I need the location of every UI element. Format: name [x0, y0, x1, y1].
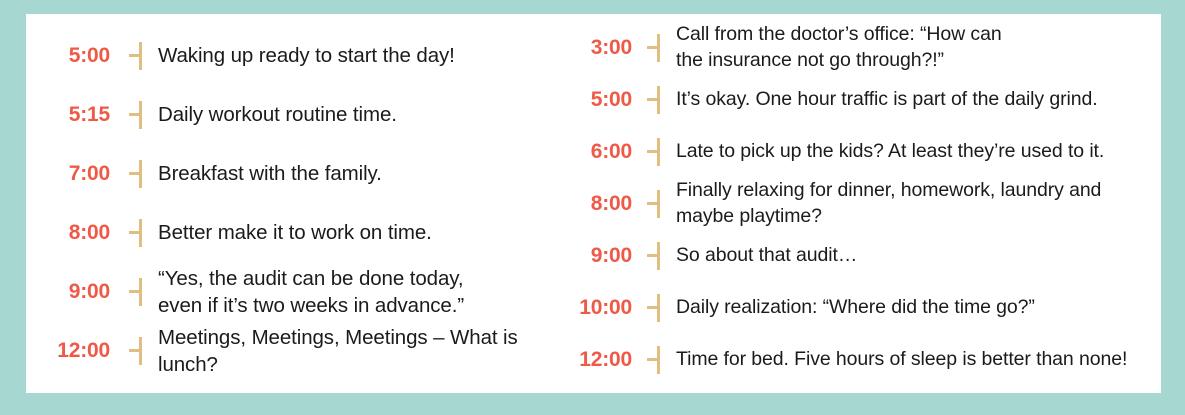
row-time: 12:00	[556, 348, 632, 372]
row-text: Waking up ready to start the day!	[158, 42, 556, 69]
row-time: 10:00	[556, 296, 632, 320]
row-time: 5:00	[26, 44, 110, 68]
tick-stem	[139, 160, 142, 188]
tick-mark-icon	[632, 85, 676, 115]
row-text: Meetings, Meetings, Meetings – What is l…	[158, 324, 556, 378]
row-time: 12:00	[26, 339, 110, 363]
tick-stem	[657, 138, 660, 166]
tick-stem	[139, 101, 142, 129]
row-time: 5:00	[556, 88, 632, 112]
row-time: 8:00	[26, 221, 110, 245]
row-text: Better make it to work on time.	[158, 219, 556, 246]
row-text: Finally relaxing for dinner, homework, l…	[676, 178, 1161, 229]
tick-mark-icon	[110, 100, 158, 130]
tick-mark-icon	[110, 277, 158, 307]
row-text: Breakfast with the family.	[158, 160, 556, 187]
tick-stem	[139, 337, 142, 365]
tick-mark-icon	[632, 293, 676, 323]
tick-arm	[129, 349, 139, 352]
schedule-row: 6:00Late to pick up the kids? At least t…	[556, 126, 1161, 178]
schedule-row: 9:00“Yes, the audit can be done today, e…	[26, 263, 556, 322]
tick-arm	[647, 254, 657, 257]
schedule-row: 7:00Breakfast with the family.	[26, 145, 556, 204]
tick-stem	[139, 219, 142, 247]
tick-arm	[129, 290, 139, 293]
schedule-card: 5:00Waking up ready to start the day!5:1…	[26, 14, 1161, 393]
tick-arm	[129, 54, 139, 57]
row-time: 3:00	[556, 36, 632, 60]
tick-mark-icon	[110, 159, 158, 189]
row-text: Daily realization: “Where did the time g…	[676, 295, 1161, 321]
tick-stem	[657, 190, 660, 218]
schedule-row: 12:00Meetings, Meetings, Meetings – What…	[26, 322, 556, 381]
tick-mark-icon	[632, 33, 676, 63]
row-time: 7:00	[26, 162, 110, 186]
row-text: So about that audit…	[676, 243, 1161, 269]
schedule-row: 12:00Time for bed. Five hours of sleep i…	[556, 334, 1161, 386]
row-text: Time for bed. Five hours of sleep is bet…	[676, 347, 1161, 373]
tick-arm	[129, 172, 139, 175]
teal-frame: 5:00Waking up ready to start the day!5:1…	[0, 0, 1185, 415]
row-text: It’s okay. One hour traffic is part of t…	[676, 87, 1161, 113]
row-time: 8:00	[556, 192, 632, 216]
row-text: Daily workout routine time.	[158, 101, 556, 128]
tick-mark-icon	[632, 345, 676, 375]
tick-stem	[657, 34, 660, 62]
row-time: 9:00	[556, 244, 632, 268]
tick-stem	[657, 86, 660, 114]
tick-arm	[647, 150, 657, 153]
tick-arm	[647, 202, 657, 205]
tick-arm	[647, 98, 657, 101]
schedule-row: 3:00Call from the doctor’s office: “How …	[556, 22, 1161, 74]
row-text: “Yes, the audit can be done today, even …	[158, 265, 556, 319]
schedule-row: 5:00It’s okay. One hour traffic is part …	[556, 74, 1161, 126]
tick-mark-icon	[110, 41, 158, 71]
schedule-row: 5:15Daily workout routine time.	[26, 86, 556, 145]
tick-arm	[129, 113, 139, 116]
tick-arm	[647, 358, 657, 361]
schedule-row: 8:00Better make it to work on time.	[26, 204, 556, 263]
row-time: 6:00	[556, 140, 632, 164]
tick-stem	[657, 294, 660, 322]
row-text: Late to pick up the kids? At least they’…	[676, 139, 1161, 165]
tick-mark-icon	[110, 218, 158, 248]
tick-mark-icon	[632, 241, 676, 271]
tick-arm	[647, 306, 657, 309]
row-time: 9:00	[26, 280, 110, 304]
tick-stem	[657, 346, 660, 374]
schedule-row: 5:00Waking up ready to start the day!	[26, 27, 556, 86]
schedule-row: 9:00So about that audit…	[556, 230, 1161, 282]
tick-stem	[139, 278, 142, 306]
tick-arm	[129, 231, 139, 234]
afternoon-column: 3:00Call from the doctor’s office: “How …	[556, 14, 1161, 393]
tick-mark-icon	[632, 189, 676, 219]
tick-arm	[647, 46, 657, 49]
tick-stem	[139, 42, 142, 70]
row-text: Call from the doctor’s office: “How can …	[676, 22, 1161, 73]
tick-mark-icon	[110, 336, 158, 366]
row-time: 5:15	[26, 103, 110, 127]
morning-column: 5:00Waking up ready to start the day!5:1…	[26, 14, 556, 393]
tick-mark-icon	[632, 137, 676, 167]
schedule-row: 8:00Finally relaxing for dinner, homewor…	[556, 178, 1161, 230]
schedule-row: 10:00Daily realization: “Where did the t…	[556, 282, 1161, 334]
tick-stem	[657, 242, 660, 270]
